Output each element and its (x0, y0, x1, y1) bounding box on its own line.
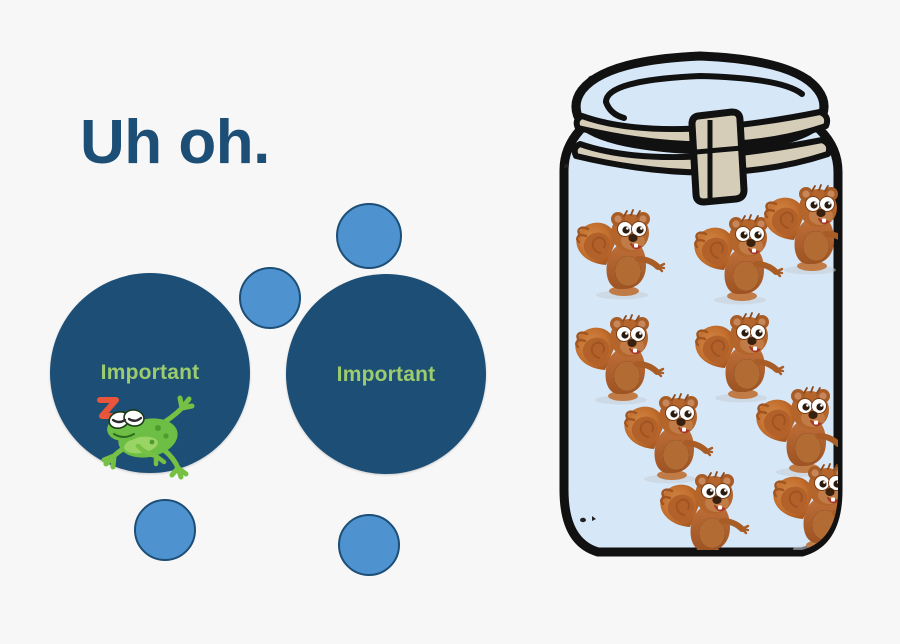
page-title: Uh oh. (80, 112, 270, 174)
important-bubble-right[interactable]: Important (286, 274, 486, 474)
slide-canvas: Uh oh. Important Important (0, 0, 900, 644)
squirrel-jar-illustration (520, 20, 880, 590)
sleeping-frog-illustration (86, 382, 216, 482)
accent-bubble-lower-left[interactable] (134, 499, 196, 561)
accent-bubble-middle[interactable] (239, 267, 301, 329)
accent-bubble-upper-right[interactable] (336, 203, 402, 269)
important-bubble-right-label: Important (286, 363, 486, 387)
frog-body-shape (104, 398, 192, 477)
accent-bubble-lower-right[interactable] (338, 514, 400, 576)
